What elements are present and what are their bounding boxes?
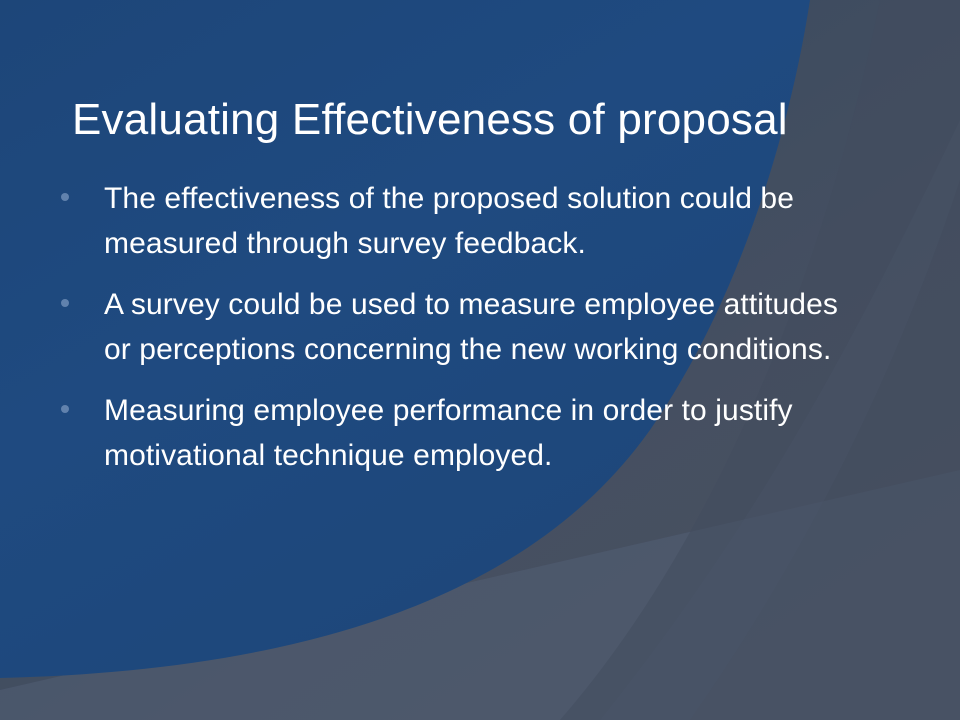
list-item: Measuring employee performance in order … <box>56 388 846 478</box>
presentation-slide: Evaluating Effectiveness of proposal The… <box>0 0 960 720</box>
dot-bullet-icon <box>61 193 69 201</box>
list-item-text: Measuring employee performance in order … <box>104 388 846 478</box>
list-item: The effectiveness of the proposed soluti… <box>56 176 846 266</box>
list-item-text: A survey could be used to measure employ… <box>104 282 846 372</box>
dot-bullet-icon <box>61 405 69 413</box>
slide-title: Evaluating Effectiveness of proposal <box>72 92 902 148</box>
dot-bullet-icon <box>61 299 69 307</box>
slide-bullet-list: The effectiveness of the proposed soluti… <box>56 176 846 478</box>
list-item: A survey could be used to measure employ… <box>56 282 846 372</box>
background-sweep-light <box>0 470 960 720</box>
list-item-text: The effectiveness of the proposed soluti… <box>104 176 846 266</box>
